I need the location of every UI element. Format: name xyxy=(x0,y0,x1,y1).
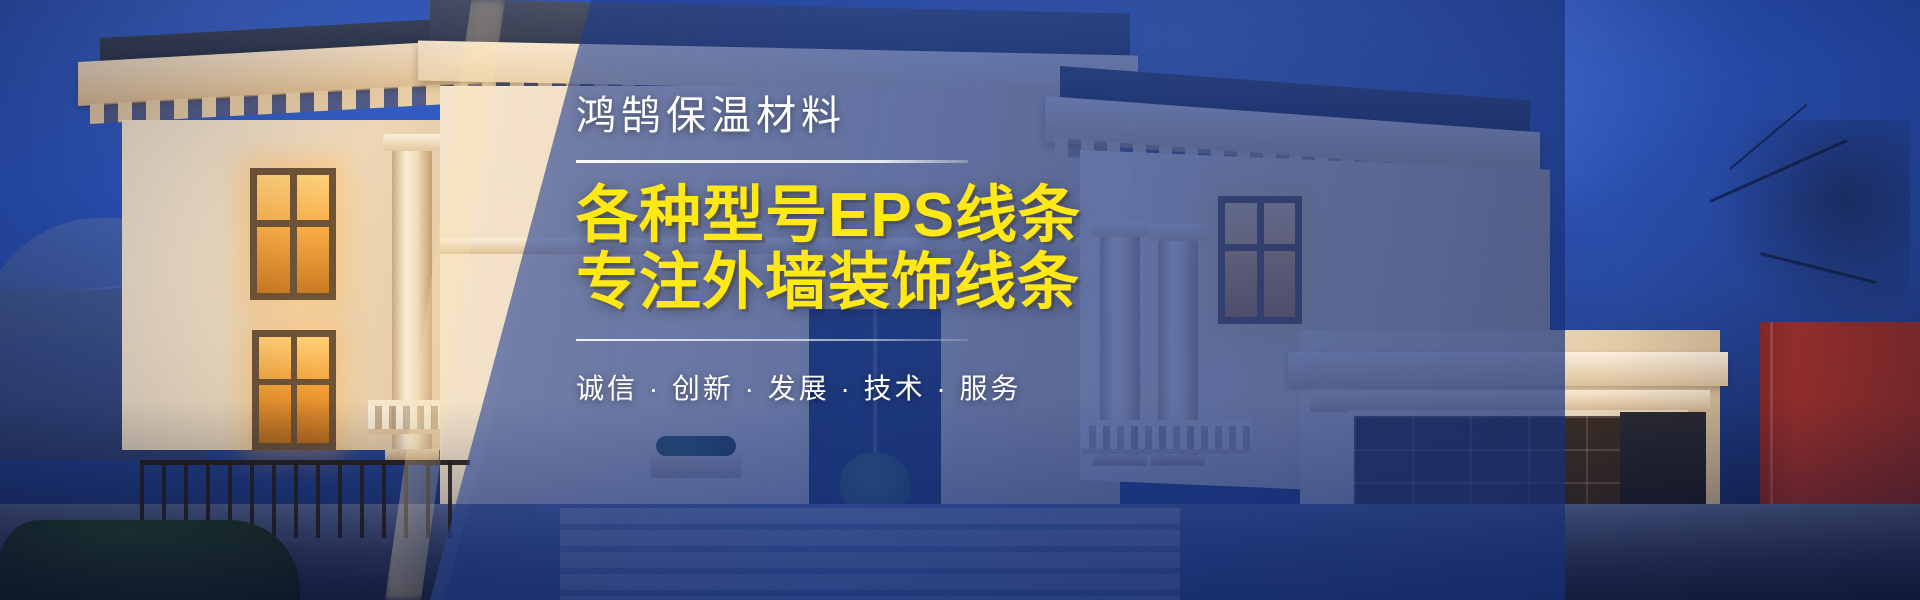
brand-name: 鸿鹄保温材料 xyxy=(576,96,1626,136)
tagline: 诚信 · 创新 · 发展 · 技术 · 服务 xyxy=(576,367,1626,407)
headline-line-2: 专注外墙装饰线条 xyxy=(576,250,1626,317)
headline-line-1: 各种型号EPS线条 xyxy=(576,181,1081,250)
headline-divider xyxy=(576,339,968,341)
tree-silhouette xyxy=(1690,120,1910,350)
banner-content: 鸿鹄保温材料 各种型号EPS线条 专注外墙装饰线条 诚信 · 创新 · 发展 ·… xyxy=(576,96,1626,407)
brand-divider xyxy=(576,160,968,163)
headline-block: 各种型号EPS线条 专注外墙装饰线条 xyxy=(576,183,1626,317)
left-wing-window-upper xyxy=(250,168,336,300)
hero-banner: 鸿鹄保温材料 各种型号EPS线条 专注外墙装饰线条 诚信 · 创新 · 发展 ·… xyxy=(0,0,1920,600)
